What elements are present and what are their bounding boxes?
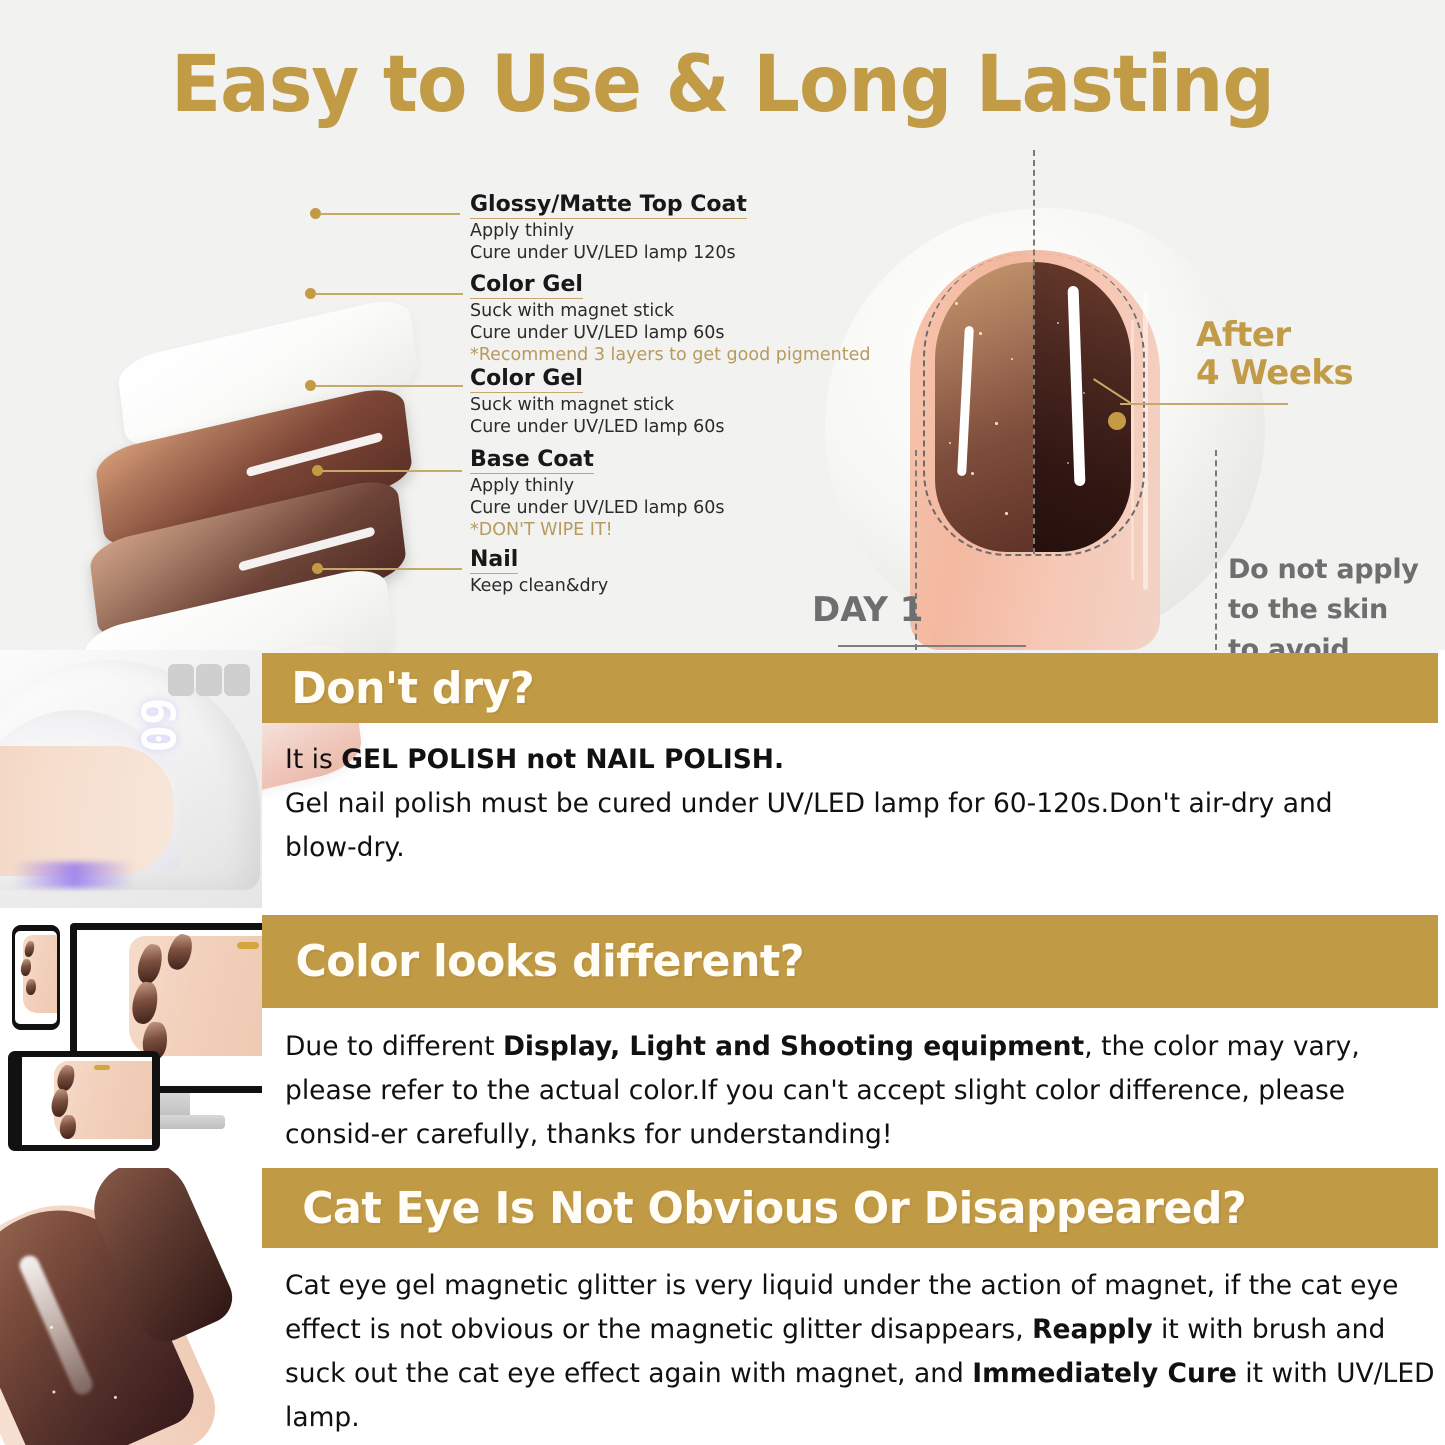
label-color-gel-2: Color Gel Suck with magnet stick Cure un… [470, 272, 870, 366]
faq-body-text: Cat eye gel magnetic glitter is very liq… [285, 1264, 1435, 1440]
label-line-2: Cure under UV/LED lamp 60s [470, 416, 724, 438]
divider-2 [0, 1160, 1445, 1168]
label-heading: Base Coat [470, 447, 594, 474]
faq-body-normal-1: Due to different [285, 1031, 503, 1062]
divider-1 [0, 908, 1445, 915]
label-nail: Nail Keep clean&dry [470, 547, 608, 597]
label-heading: Glossy/Matte Top Coat [470, 192, 747, 219]
label-line-1: Suck with magnet stick [470, 394, 724, 416]
label-line-1: Suck with magnet stick [470, 300, 870, 322]
leader-line-after [1120, 403, 1288, 405]
faq-cat-eye: Cat Eye Is Not Obvious Or Disappeared? C… [0, 1168, 1445, 1445]
thumb-devices [0, 915, 262, 1160]
thumb-glossy-nail [0, 1168, 262, 1445]
guide-line-right [1215, 450, 1217, 650]
leader-dot-after [1108, 412, 1126, 430]
thumb-uv-lamp: 60 [0, 650, 262, 908]
label-base-coat: Base Coat Apply thinly Cure under UV/LED… [470, 447, 724, 541]
faq-body-normal-1: It is [285, 744, 341, 775]
label-line-1: Apply thinly [470, 220, 747, 242]
faq-heading-text: Cat Eye Is Not Obvious Or Disappeared? [277, 1183, 1246, 1234]
faq-heading-band: Don't dry? [262, 653, 1445, 723]
faq-body-bold-2: Immediately Cure [972, 1358, 1237, 1389]
divider-right-edge [1438, 650, 1445, 1445]
label-heading: Color Gel [470, 366, 583, 393]
faq-heading-band: Cat Eye Is Not Obvious Or Disappeared? [262, 1168, 1445, 1248]
faq-body-text: It is GEL POLISH not NAIL POLISH. Gel na… [285, 738, 1405, 870]
label-heading: Nail [470, 547, 518, 574]
faq-heading-band: Color looks different? [262, 915, 1445, 1008]
after-line-1: After [1196, 316, 1353, 354]
hero-section: Glossy/Matte Top Coat Apply thinly Cure … [0, 150, 1445, 650]
label-line-1: Apply thinly [470, 475, 724, 497]
faq-body-normal-2: Gel nail polish must be cured under UV/L… [285, 788, 1333, 863]
label-note: *DON'T WIPE IT! [470, 519, 724, 541]
faq-heading-text: Don't dry? [266, 663, 534, 714]
faq-dont-dry: 60 Don't dry? It is GEL POLISH not NAIL … [0, 650, 1445, 912]
label-line-1: Keep clean&dry [470, 575, 608, 597]
label-line-2: Cure under UV/LED lamp 120s [470, 242, 747, 264]
leader-line-base-coat [322, 470, 462, 472]
leader-line-color-gel-2 [315, 293, 463, 295]
leader-line-nail [322, 568, 462, 570]
split-line-vertical [1033, 150, 1035, 554]
infographic-page: Easy to Use & Long Lasting Glo [0, 0, 1445, 1445]
callout-day-1: DAY 1 [812, 590, 923, 630]
page-title: Easy to Use & Long Lasting [43, 40, 1401, 130]
label-line-2: Cure under UV/LED lamp 60s [470, 322, 870, 344]
label-heading: Color Gel [470, 272, 583, 299]
lamp-timer-value: 60 [131, 697, 185, 752]
faq-heading-text: Color looks different? [270, 936, 804, 987]
tablet-device [8, 1051, 160, 1151]
phone-device [12, 925, 60, 1030]
leader-line-color-gel-1 [315, 385, 463, 387]
callout-after-4-weeks: After 4 Weeks [1196, 316, 1353, 392]
faq-body-bold-1: Reapply [1032, 1314, 1153, 1345]
skin-line-1: Do not apply [1228, 550, 1445, 590]
after-line-2: 4 Weeks [1196, 354, 1353, 392]
label-color-gel-1: Color Gel Suck with magnet stick Cure un… [470, 366, 724, 438]
leader-line-day1 [838, 645, 1026, 647]
label-line-2: Cure under UV/LED lamp 60s [470, 497, 724, 519]
faq-body-text: Due to different Display, Light and Shoo… [285, 1025, 1425, 1157]
label-top-coat: Glossy/Matte Top Coat Apply thinly Cure … [470, 192, 747, 264]
leader-line-top-coat [320, 213, 460, 215]
label-note: *Recommend 3 layers to get good pigmente… [470, 344, 870, 366]
faq-body-bold-1: GEL POLISH not NAIL POLISH. [341, 744, 784, 775]
skin-line-2: to the skin [1228, 590, 1445, 630]
faq-body-bold-1: Display, Light and Shooting equipment [503, 1031, 1084, 1062]
faq-color-different: Color looks different? Due to different … [0, 915, 1445, 1165]
